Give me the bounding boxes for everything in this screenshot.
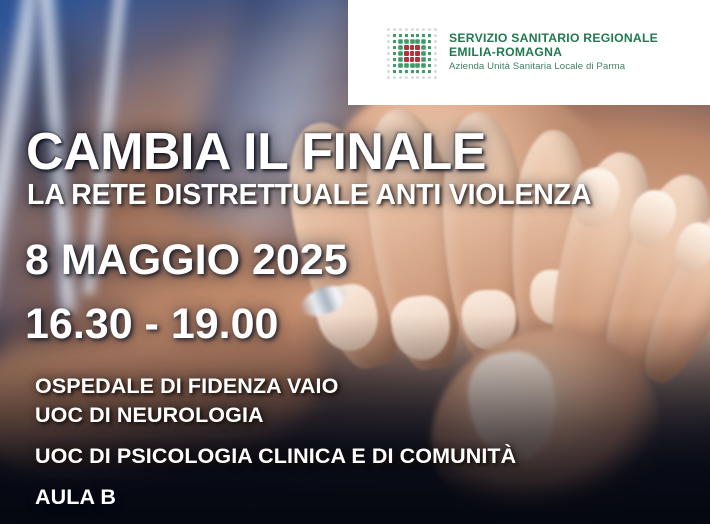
venue-line-3: UOC DI PSICOLOGIA CLINICA E DI COMUNITÀ bbox=[35, 446, 516, 468]
emilia-romagna-dotted-square-logo-icon bbox=[386, 27, 438, 81]
venue-room: AULA B bbox=[35, 487, 116, 509]
logo-line-2: EMILIA-ROMAGNA bbox=[449, 46, 658, 60]
logo-text-block: SERVIZIO SANITARIO REGIONALE EMILIA-ROMA… bbox=[449, 32, 658, 72]
venue-line-1: OSPEDALE DI FIDENZA VAIO bbox=[35, 376, 338, 398]
page-title: CAMBIA IL FINALE bbox=[26, 126, 486, 178]
event-time: 16.30 - 19.00 bbox=[25, 303, 278, 346]
logo-line-3: Azienda Unità Sanitaria Locale di Parma bbox=[449, 62, 658, 73]
logo-panel: SERVIZIO SANITARIO REGIONALE EMILIA-ROMA… bbox=[348, 0, 710, 105]
logo-line-1: SERVIZIO SANITARIO REGIONALE bbox=[449, 32, 658, 46]
event-date: 8 MAGGIO 2025 bbox=[25, 239, 348, 282]
venue-line-2: UOC DI NEUROLOGIA bbox=[35, 405, 264, 427]
page-subtitle: LA RETE DISTRETTUALE ANTI VIOLENZA bbox=[27, 181, 591, 210]
event-poster: SERVIZIO SANITARIO REGIONALE EMILIA-ROMA… bbox=[0, 0, 710, 524]
